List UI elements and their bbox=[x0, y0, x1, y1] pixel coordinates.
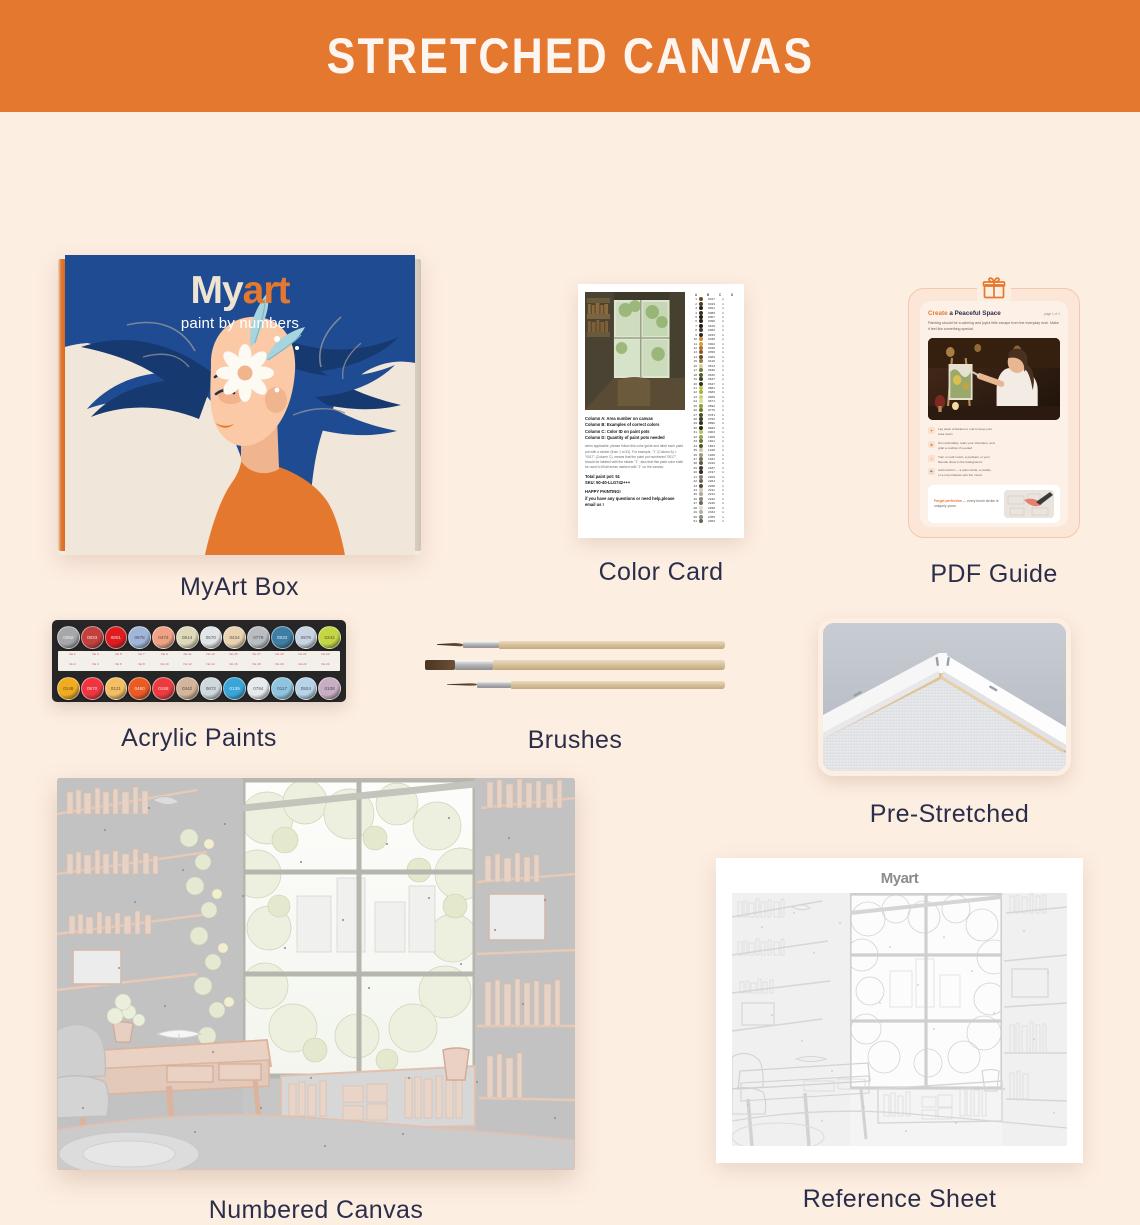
color-id: 0302 bbox=[705, 342, 718, 346]
quantity: 1 bbox=[720, 461, 726, 465]
quantity: 1 bbox=[720, 302, 726, 306]
color-id: 0762 bbox=[705, 417, 718, 421]
paint-pot-number: 0117 bbox=[277, 686, 287, 691]
paint-pot-number: 0672 bbox=[206, 686, 216, 691]
area-number: 18 bbox=[690, 373, 697, 377]
brush-bristle bbox=[437, 643, 463, 647]
caption-color-card: Color Card bbox=[578, 558, 744, 587]
caption-pre-stretched: Pre-Stretched bbox=[818, 800, 1081, 829]
color-card-legend: Column A: Area number on canvas Column B… bbox=[585, 416, 685, 508]
area-number: 23 bbox=[690, 395, 697, 399]
color-id: 1608 bbox=[705, 435, 718, 439]
area-number: 46 bbox=[690, 497, 697, 501]
quantity: 1 bbox=[720, 506, 726, 510]
area-number: 31 bbox=[690, 430, 697, 434]
pot-sticker-label: No 18 bbox=[245, 662, 268, 666]
quantity: 1 bbox=[720, 466, 726, 470]
area-number: 32 bbox=[690, 435, 697, 439]
area-number: 4 bbox=[690, 311, 697, 315]
quantity: 1 bbox=[720, 404, 726, 408]
pdf-page-marker: page 1 of 1 bbox=[1044, 312, 1060, 316]
color-swatch bbox=[699, 355, 703, 359]
paint-pot: 0933 bbox=[271, 626, 294, 649]
item-pdf-guide: Create a Peaceful Space page 1 of 1 Pain… bbox=[908, 288, 1080, 589]
color-swatch bbox=[699, 484, 703, 488]
quantity: 1 bbox=[720, 497, 726, 501]
color-id: 0781 bbox=[705, 413, 718, 417]
color-swatch bbox=[699, 302, 703, 306]
pot-sticker-label: No 4 bbox=[84, 662, 107, 666]
quantity: 1 bbox=[720, 359, 726, 363]
pdf-tip: ☕ Add comfort — a warm drink, a candle, … bbox=[928, 468, 995, 478]
color-id: 1823 bbox=[705, 444, 718, 448]
paint-pot: 0833 bbox=[81, 626, 104, 649]
brush-handle bbox=[499, 641, 725, 649]
item-pre-stretched: Pre-Stretched bbox=[818, 618, 1081, 829]
color-id: 0007 bbox=[705, 315, 718, 319]
quantity: 1 bbox=[720, 475, 726, 479]
area-number: 15 bbox=[690, 359, 697, 363]
myart-box-image: Myart paint by numbers bbox=[58, 255, 421, 555]
quantity: 1 bbox=[720, 417, 726, 421]
page-title: STRETCHED CANVAS bbox=[326, 27, 814, 85]
color-id: 2246 bbox=[705, 501, 718, 505]
brush-ferrule bbox=[477, 681, 511, 688]
paint-pot: 0473 bbox=[152, 626, 175, 649]
pdf-tip: ◈ Sit comfortably, relax your shoulders,… bbox=[928, 441, 995, 451]
pot-sticker-label: No 6 bbox=[107, 662, 130, 666]
color-swatch bbox=[699, 497, 703, 501]
quantity: 1 bbox=[720, 479, 726, 483]
color-id: 0100 bbox=[705, 324, 718, 328]
paint-pot: 0570 bbox=[81, 677, 104, 700]
col-d: D bbox=[727, 293, 737, 297]
product-grid: Myart paint by numbers MyArt Box bbox=[0, 112, 1140, 1140]
quantity: 1 bbox=[720, 306, 726, 310]
area-number: 49 bbox=[690, 510, 697, 514]
brush-handle bbox=[511, 681, 725, 689]
paint-pot: 0342 bbox=[176, 677, 199, 700]
area-number: 13 bbox=[690, 350, 697, 354]
area-number: 45 bbox=[690, 492, 697, 496]
paint-pot-number: 0570 bbox=[87, 686, 97, 691]
color-id: 0683 bbox=[705, 390, 718, 394]
paint-pot-number: 0424 bbox=[230, 635, 240, 640]
pot-sticker-label: No 20 bbox=[268, 662, 291, 666]
color-id: 0637 bbox=[705, 377, 718, 381]
paint-pot: 0979 bbox=[295, 626, 318, 649]
area-number: 28 bbox=[690, 417, 697, 421]
color-id: 0416 bbox=[705, 359, 718, 363]
caption-reference-sheet: Reference Sheet bbox=[716, 1185, 1083, 1214]
pot-sticker-label: No 16 bbox=[222, 662, 245, 666]
area-number: 39 bbox=[690, 466, 697, 470]
area-number: 50 bbox=[690, 515, 697, 519]
color-swatch bbox=[699, 417, 703, 421]
pot-sticker-label: No 1 bbox=[61, 652, 84, 656]
paint-pot-number: 0342 bbox=[325, 635, 335, 640]
paint-pot-row-bottom: 0148057001210460015803420672013907840117… bbox=[57, 677, 341, 700]
area-number: 20 bbox=[690, 382, 697, 386]
paint-pot-row-top: 0392083308010978047306140570042407790933… bbox=[57, 626, 341, 649]
quantity: 1 bbox=[720, 377, 726, 381]
color-id: 2355 bbox=[705, 515, 718, 519]
reference-sheet-image: Myart bbox=[716, 858, 1083, 1163]
pre-stretched-image bbox=[818, 618, 1071, 776]
quantity: 1 bbox=[720, 382, 726, 386]
paint-pot: 0139 bbox=[223, 677, 246, 700]
pot-sticker-label: No 2 bbox=[61, 662, 84, 666]
quantity: 1 bbox=[720, 501, 726, 505]
paint-pot-number: 0833 bbox=[87, 635, 97, 640]
color-id: 0613 bbox=[705, 364, 718, 368]
color-swatch bbox=[699, 515, 703, 519]
quantity: 1 bbox=[720, 439, 726, 443]
logo-art-text: art bbox=[243, 269, 290, 312]
pdf-tip-text: Add comfort — a warm drink, a candle, or… bbox=[938, 468, 995, 478]
quantity: 1 bbox=[720, 342, 726, 346]
color-id: 2187 bbox=[705, 466, 718, 470]
area-number: 5 bbox=[690, 315, 697, 319]
pot-sticker-label: No 19 bbox=[268, 652, 291, 656]
paint-pot-number: 0570 bbox=[206, 635, 216, 640]
quantity: 1 bbox=[720, 457, 726, 461]
caption-myart-box: MyArt Box bbox=[58, 573, 421, 602]
paint-pot: 0108 bbox=[318, 677, 341, 700]
quantity: 1 bbox=[720, 333, 726, 337]
quantity: 1 bbox=[720, 315, 726, 319]
color-swatch bbox=[699, 453, 703, 457]
color-swatch bbox=[699, 395, 703, 399]
color-id: 0330 bbox=[705, 337, 718, 341]
brushes-image bbox=[425, 634, 725, 700]
paint-pot-number: 0108 bbox=[325, 686, 335, 691]
area-number: 44 bbox=[690, 488, 697, 492]
logo-my-text: My bbox=[190, 269, 242, 312]
color-swatch bbox=[699, 506, 703, 510]
quantity: 1 bbox=[720, 328, 726, 332]
pdf-tip: ✦ Lay down a blanket or mat to keep your… bbox=[928, 427, 995, 437]
quantity: 1 bbox=[720, 470, 726, 474]
color-id: 1926 bbox=[705, 453, 718, 457]
color-swatch bbox=[699, 457, 703, 461]
color-id: 2016 bbox=[705, 461, 718, 465]
brush-bristle bbox=[425, 660, 455, 670]
area-number: 33 bbox=[690, 439, 697, 443]
color-swatch bbox=[699, 519, 703, 523]
area-number: 14 bbox=[690, 355, 697, 359]
quantity: 1 bbox=[720, 324, 726, 328]
color-swatch bbox=[699, 311, 703, 315]
color-swatch bbox=[699, 435, 703, 439]
color-id: 2209 bbox=[705, 475, 718, 479]
quantity: 1 bbox=[720, 444, 726, 448]
area-number: 26 bbox=[690, 408, 697, 412]
paint-pot: 0148 bbox=[57, 677, 80, 700]
area-number: 11 bbox=[690, 342, 697, 346]
quantity: 1 bbox=[720, 413, 726, 417]
item-acrylic-paints: 0392083308010978047306140570042407790933… bbox=[52, 620, 346, 753]
quantity: 1 bbox=[720, 510, 726, 514]
paint-pot-number: 0614 bbox=[182, 635, 192, 640]
color-table-row: 5123631 bbox=[690, 519, 737, 523]
flat-brush-large bbox=[425, 660, 725, 669]
paint-pot: 0392 bbox=[57, 626, 80, 649]
area-number: 35 bbox=[690, 448, 697, 452]
pot-sticker-label: No 24 bbox=[314, 662, 337, 666]
color-card-note: when applicable, please follow this colo… bbox=[585, 444, 685, 470]
area-number: 40 bbox=[690, 470, 697, 474]
color-id: 0843 bbox=[705, 426, 718, 430]
color-swatch bbox=[699, 413, 703, 417]
music-icon: ♪ bbox=[928, 455, 935, 462]
quantity: 1 bbox=[720, 492, 726, 496]
paint-pot-number: 0924 bbox=[301, 686, 311, 691]
area-number: 43 bbox=[690, 484, 697, 488]
quantity: 1 bbox=[720, 426, 726, 430]
color-id: 0021 bbox=[705, 306, 718, 310]
pot-sticker-label: No 15 bbox=[222, 652, 245, 656]
quantity: 1 bbox=[720, 515, 726, 519]
brush-handle bbox=[493, 660, 725, 670]
paint-pot: 0342 bbox=[318, 626, 341, 649]
footer-accent: Forget perfection bbox=[934, 499, 962, 503]
color-id: 0384 bbox=[705, 355, 718, 359]
quantity: 1 bbox=[720, 319, 726, 323]
paint-pot: 0978 bbox=[128, 626, 151, 649]
area-number: 41 bbox=[690, 475, 697, 479]
paint-pot-number: 0460 bbox=[135, 686, 145, 691]
paint-pot: 0158 bbox=[152, 677, 175, 700]
pdf-footer-note: Forget perfection — every brush stroke i… bbox=[928, 485, 1060, 523]
quantity: 1 bbox=[720, 430, 726, 434]
item-numbered-canvas: Numbered Canvas bbox=[57, 778, 575, 1225]
area-number: 17 bbox=[690, 368, 697, 372]
pdf-tip-text: Lay down a blanket or mat to keep your a… bbox=[938, 427, 995, 437]
numbered-canvas-image bbox=[57, 778, 575, 1170]
pdf-guide-photo bbox=[928, 338, 1060, 420]
quantity: 1 bbox=[720, 399, 726, 403]
color-id: 0362 bbox=[705, 328, 718, 332]
color-id: 0671 bbox=[705, 399, 718, 403]
paint-pot: 0121 bbox=[105, 677, 128, 700]
quantity: 1 bbox=[720, 408, 726, 412]
pot-sticker-label: No 10 bbox=[153, 662, 176, 666]
quantity: 1 bbox=[720, 355, 726, 359]
caption-brushes: Brushes bbox=[425, 726, 725, 755]
paint-pot-number: 0139 bbox=[230, 686, 240, 691]
area-number: 30 bbox=[690, 426, 697, 430]
paint-pot: 0570 bbox=[200, 626, 223, 649]
color-swatch bbox=[699, 426, 703, 430]
pdf-tip-text: Turn on soft music, a podcast, or your f… bbox=[938, 455, 995, 465]
color-card-table: A B C D 10017120019130021140089150007160… bbox=[690, 292, 737, 530]
label-row-even: No 2No 4No 6No 8No 10No 12No 14No 16No 1… bbox=[58, 661, 340, 667]
color-id: 0346 bbox=[705, 346, 718, 350]
caption-pdf-guide: PDF Guide bbox=[908, 560, 1080, 589]
pot-sticker-label: No 13 bbox=[199, 652, 222, 656]
color-id: 2242 bbox=[705, 497, 718, 501]
color-id: 0647 bbox=[705, 382, 718, 386]
pdf-title-rest: a Peaceful Space bbox=[948, 310, 1001, 317]
area-number: 36 bbox=[690, 453, 697, 457]
item-myart-box: Myart paint by numbers MyArt Box bbox=[58, 255, 421, 602]
area-number: 1 bbox=[690, 297, 697, 301]
pot-sticker-label: No 11 bbox=[176, 652, 199, 656]
pot-sticker-label: No 7 bbox=[130, 652, 153, 656]
paint-pot: 0117 bbox=[271, 677, 294, 700]
color-swatch bbox=[699, 466, 703, 470]
paint-pot-number: 0779 bbox=[253, 635, 263, 640]
pot-sticker-label: No 17 bbox=[245, 652, 268, 656]
area-number: 21 bbox=[690, 386, 697, 390]
color-id: 0669 bbox=[705, 395, 718, 399]
paint-pot-number: 0392 bbox=[63, 635, 73, 640]
paint-pot: 0614 bbox=[176, 626, 199, 649]
paint-pot: 0801 bbox=[105, 626, 128, 649]
area-number: 24 bbox=[690, 399, 697, 403]
color-id: 1931 bbox=[705, 457, 718, 461]
pot-sticker-label: No 23 bbox=[314, 652, 337, 656]
brush-ferrule bbox=[463, 641, 499, 648]
pdf-title-accent: Create bbox=[928, 310, 948, 317]
gift-icon bbox=[977, 271, 1011, 305]
brush-ferrule bbox=[455, 660, 493, 670]
paint-tray-label-strip: No 1No 3No 5No 7No 9No 11No 13No 15No 17… bbox=[58, 651, 340, 671]
quantity: 1 bbox=[720, 390, 726, 394]
brush-bristle bbox=[447, 683, 477, 686]
quantity: 1 bbox=[720, 311, 726, 315]
paint-pot-number: 0979 bbox=[301, 635, 311, 640]
pot-sticker-label: No 14 bbox=[199, 662, 222, 666]
box-front-face: Myart paint by numbers bbox=[65, 255, 415, 555]
paint-pot: 0924 bbox=[295, 677, 318, 700]
color-swatch bbox=[699, 488, 703, 492]
color-swatch bbox=[699, 315, 703, 319]
paint-pot: 0460 bbox=[128, 677, 151, 700]
color-id: 0019 bbox=[705, 302, 718, 306]
area-number: 47 bbox=[690, 501, 697, 505]
paint-pot-number: 0342 bbox=[182, 686, 192, 691]
color-id: 0089 bbox=[705, 311, 718, 315]
pdf-tips-list: ✦ Lay down a blanket or mat to keep your… bbox=[928, 427, 1060, 479]
area-number: 51 bbox=[690, 519, 697, 523]
pdf-guide-image: Create a Peaceful Space page 1 of 1 Pain… bbox=[908, 288, 1080, 538]
pot-sticker-label: No 8 bbox=[130, 662, 153, 666]
paint-pot: 0672 bbox=[200, 677, 223, 700]
area-number: 7 bbox=[690, 324, 697, 328]
quantity: 1 bbox=[720, 337, 726, 341]
pdf-tip-text: Sit comfortably, relax your shoulders, a… bbox=[938, 441, 995, 451]
color-id: 0903 bbox=[705, 430, 718, 434]
sku-label: SKU: 50-40-LLG742+++ bbox=[585, 480, 685, 486]
broom-icon: ✦ bbox=[928, 427, 935, 434]
area-number: 29 bbox=[690, 421, 697, 425]
paint-pot: 0424 bbox=[223, 626, 246, 649]
reference-sheet-linework bbox=[732, 893, 1067, 1146]
pdf-guide-title: Create a Peaceful Space bbox=[928, 310, 1001, 317]
area-number: 37 bbox=[690, 457, 697, 461]
round-brush-medium bbox=[437, 640, 725, 649]
chair-icon: ◈ bbox=[928, 441, 935, 448]
color-id: 2211 bbox=[705, 488, 718, 492]
paint-pot-number: 0121 bbox=[111, 686, 121, 691]
area-number: 27 bbox=[690, 413, 697, 417]
drink-icon: ☕ bbox=[928, 468, 935, 475]
color-id: 0692 bbox=[705, 404, 718, 408]
quantity: 1 bbox=[720, 364, 726, 368]
area-number: 9 bbox=[690, 333, 697, 337]
paint-pot-number: 0473 bbox=[158, 635, 168, 640]
item-brushes: Brushes bbox=[425, 634, 725, 755]
area-number: 12 bbox=[690, 346, 697, 350]
area-number: 25 bbox=[690, 404, 697, 408]
color-swatch bbox=[699, 346, 703, 350]
quantity: 1 bbox=[720, 484, 726, 488]
color-card-image: Column A: Area number on canvas Column B… bbox=[578, 284, 744, 538]
paint-pot-number: 0978 bbox=[135, 635, 145, 640]
color-swatch bbox=[699, 364, 703, 368]
box-right-edge bbox=[415, 259, 421, 551]
color-id: 2214 bbox=[705, 492, 718, 496]
color-id: 0892 bbox=[705, 421, 718, 425]
color-id: 2197 bbox=[705, 470, 718, 474]
box-left-edge bbox=[58, 259, 65, 551]
quantity: 1 bbox=[720, 448, 726, 452]
pdf-footer-photo bbox=[1004, 490, 1054, 518]
color-swatch bbox=[699, 342, 703, 346]
logo-tagline: paint by numbers bbox=[65, 315, 415, 332]
color-swatch bbox=[699, 404, 703, 408]
color-id: 0630 bbox=[705, 368, 718, 372]
paint-pot: 0784 bbox=[247, 677, 270, 700]
quantity: 1 bbox=[720, 350, 726, 354]
color-id: 0356 bbox=[705, 350, 718, 354]
item-reference-sheet: Myart bbox=[716, 858, 1083, 1214]
color-id: 0632 bbox=[705, 373, 718, 377]
caption-acrylic-paints: Acrylic Paints bbox=[52, 724, 346, 753]
detail-brush-fine bbox=[447, 680, 725, 689]
color-id: 2363 bbox=[705, 519, 718, 523]
paint-pot-number: 0933 bbox=[277, 635, 287, 640]
color-id: 1821 bbox=[705, 439, 718, 443]
area-number: 8 bbox=[690, 328, 697, 332]
quantity: 1 bbox=[720, 453, 726, 457]
paint-pot-number: 0158 bbox=[158, 686, 168, 691]
paint-pot-number: 0801 bbox=[111, 635, 121, 640]
color-id: 0770 bbox=[705, 408, 718, 412]
pdf-lead-text: Painting should be a calming and joyful … bbox=[928, 321, 1060, 333]
color-id: 2264 bbox=[705, 479, 718, 483]
color-id: 0017 bbox=[705, 297, 718, 301]
paint-pot-number: 0784 bbox=[253, 686, 263, 691]
pdf-tip: ♪ Turn on soft music, a podcast, or your… bbox=[928, 455, 995, 465]
area-number: 10 bbox=[690, 337, 697, 341]
paint-pot-number: 0148 bbox=[63, 686, 73, 691]
area-number: 19 bbox=[690, 377, 697, 381]
quantity: 1 bbox=[720, 395, 726, 399]
color-id: 2258 bbox=[705, 506, 718, 510]
color-swatch bbox=[699, 324, 703, 328]
quantity: 1 bbox=[720, 435, 726, 439]
color-swatch bbox=[699, 373, 703, 377]
pot-sticker-label: No 9 bbox=[153, 652, 176, 656]
color-id: 0233 bbox=[705, 333, 718, 337]
item-color-card: Column A: Area number on canvas Column B… bbox=[578, 284, 744, 587]
area-number: 38 bbox=[690, 461, 697, 465]
area-number: 22 bbox=[690, 390, 697, 394]
area-number: 48 bbox=[690, 506, 697, 510]
